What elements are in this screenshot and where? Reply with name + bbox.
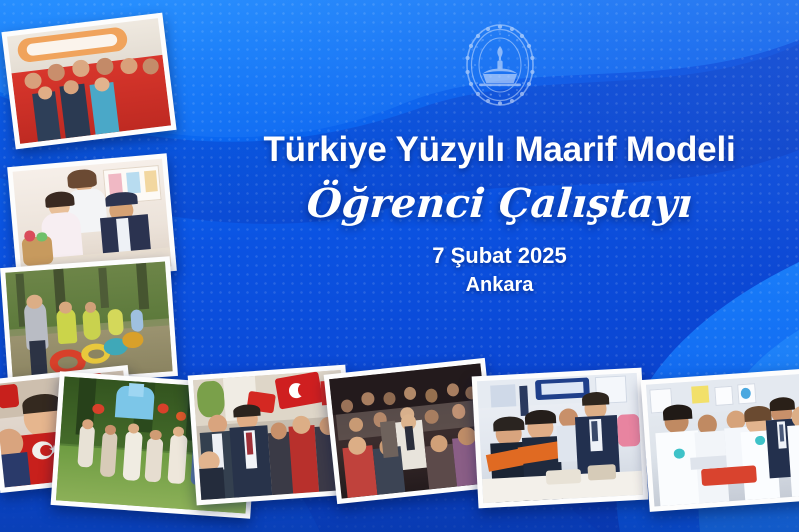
photo-image [646, 373, 799, 506]
photo-team-red [1, 13, 176, 150]
photo-image [329, 363, 493, 498]
poster-canvas: Türkiye Yüzyılı Maarif Modeli Öğrenci Ça… [0, 0, 799, 532]
photo-image [5, 262, 172, 383]
photo-lab-coats [641, 368, 799, 512]
photo-image [7, 18, 171, 144]
photo-image [477, 373, 643, 503]
photo-school-visit [472, 368, 649, 509]
